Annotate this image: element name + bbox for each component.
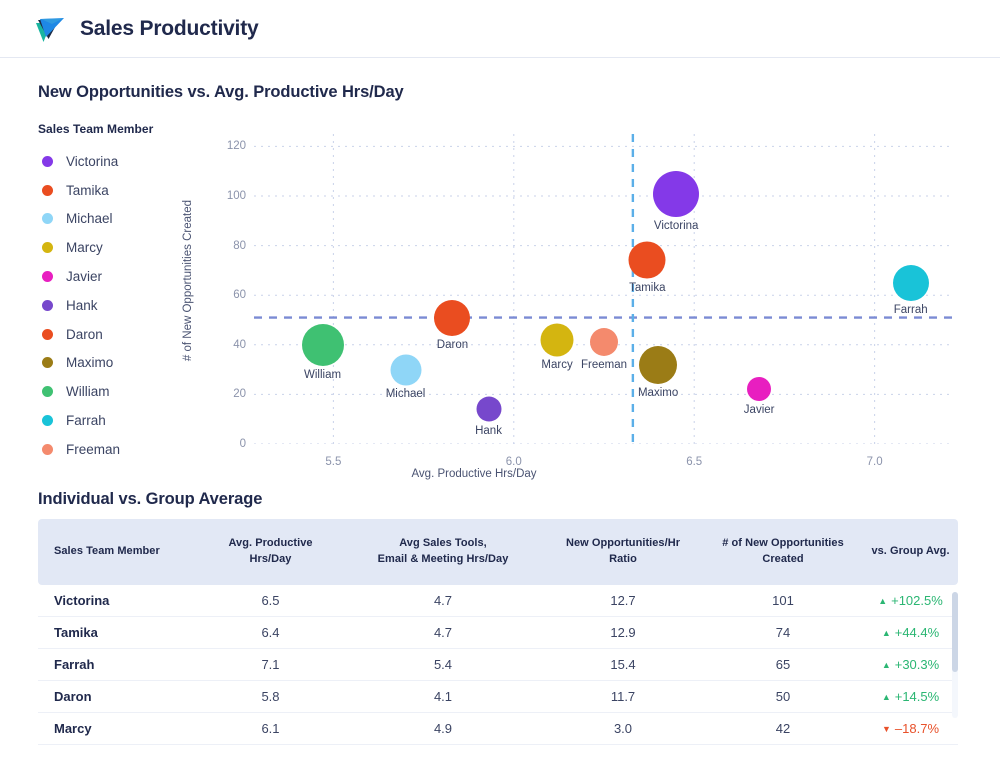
bubble-label: Hank — [475, 425, 502, 437]
y-axis-label: # of New Opportunities Created — [182, 200, 194, 361]
data-bubble[interactable] — [893, 265, 929, 301]
bubble-label: Michael — [386, 388, 426, 400]
col-header-member[interactable]: Sales Team Member — [38, 519, 198, 585]
cell-hrs: 6.5 — [198, 585, 343, 617]
cell-member: Marcy — [38, 712, 198, 744]
legend-item[interactable]: Victorina — [38, 147, 198, 176]
cell-vs-group-avg: ▲+30.3% — [863, 648, 958, 680]
x-tick-label: 7.0 — [850, 456, 900, 468]
delta-badge: ▲+14.5% — [882, 689, 939, 704]
cell-vs-group-avg: ▲+14.5% — [863, 680, 958, 712]
legend-color-dot — [42, 415, 53, 426]
arrow-up-icon: ▲ — [878, 596, 887, 606]
cell-vs-group-avg: ▼–18.7% — [863, 712, 958, 744]
cell-created: 42 — [703, 712, 863, 744]
col-header-vsavg[interactable]: vs. Group Avg. — [863, 519, 958, 585]
legend-item[interactable]: Javier — [38, 262, 198, 291]
arrow-down-icon: ▼ — [882, 724, 891, 734]
arrow-up-icon: ▲ — [882, 660, 891, 670]
bubble-label: Farrah — [894, 304, 928, 316]
legend-item[interactable]: Michael — [38, 205, 198, 234]
legend-item-label: Hank — [66, 298, 98, 313]
bubble-label: William — [304, 369, 341, 381]
legend-item-label: Tamika — [66, 183, 109, 198]
cell-hrs: 6.1 — [198, 712, 343, 744]
cell-ratio: 12.9 — [543, 616, 703, 648]
legend-color-dot — [42, 185, 53, 196]
cell-ratio: 15.4 — [543, 648, 703, 680]
table-row[interactable]: Marcy6.14.93.042▼–18.7% — [38, 712, 958, 744]
app-header: Sales Productivity — [0, 0, 1000, 58]
bubble-label: Tamika — [629, 282, 665, 294]
col-header-tools[interactable]: Avg Sales Tools,Email & Meeting Hrs/Day — [343, 519, 543, 585]
table-row[interactable]: Tamika6.44.712.974▲+44.4% — [38, 616, 958, 648]
legend-item[interactable]: Farrah — [38, 406, 198, 435]
data-bubble[interactable] — [747, 377, 771, 401]
legend-color-dot — [42, 386, 53, 397]
delta-badge: ▲+44.4% — [882, 625, 939, 640]
cell-hrs: 5.8 — [198, 680, 343, 712]
cell-vs-group-avg: ▲+102.5% — [863, 585, 958, 617]
cell-ratio: 11.7 — [543, 680, 703, 712]
cell-hrs: 7.1 — [198, 648, 343, 680]
bubble-label: Marcy — [541, 359, 572, 371]
col-header-hrs[interactable]: Avg. ProductiveHrs/Day — [198, 519, 343, 585]
bubble-label: Javier — [744, 404, 775, 416]
cell-vs-group-avg: ▲+44.4% — [863, 616, 958, 648]
legend-title: Sales Team Member — [38, 122, 198, 136]
cell-tools: 4.9 — [343, 712, 543, 744]
arrow-up-icon: ▲ — [882, 628, 891, 638]
cell-tools: 4.1 — [343, 680, 543, 712]
cell-hrs: 6.4 — [198, 616, 343, 648]
cell-member: Tamika — [38, 616, 198, 648]
bubble-chart: # of New Opportunities Created 020406080… — [190, 120, 980, 480]
legend-color-dot — [42, 357, 53, 368]
cell-tools: 4.7 — [343, 616, 543, 648]
x-axis-label: Avg. Productive Hrs/Day — [324, 468, 624, 480]
triangle-arrow-logo-icon — [32, 12, 66, 46]
cell-member: Daron — [38, 680, 198, 712]
legend-item[interactable]: Freeman — [38, 435, 198, 464]
chart-section-title: New Opportunities vs. Avg. Productive Hr… — [38, 83, 404, 102]
x-tick-label: 6.5 — [669, 456, 719, 468]
legend-item-label: Freeman — [66, 442, 120, 457]
cell-created: 65 — [703, 648, 863, 680]
cell-ratio: 12.7 — [543, 585, 703, 617]
y-tick-label: 0 — [206, 438, 246, 450]
y-tick-label: 80 — [206, 240, 246, 252]
cell-created: 74 — [703, 616, 863, 648]
data-bubble[interactable] — [434, 300, 470, 336]
arrow-up-icon: ▲ — [882, 692, 891, 702]
cell-member: Farrah — [38, 648, 198, 680]
y-tick-label: 40 — [206, 339, 246, 351]
plot-gridlines — [254, 134, 954, 444]
col-header-created[interactable]: # of New OpportunitiesCreated — [703, 519, 863, 585]
legend-item[interactable]: Marcy — [38, 233, 198, 262]
x-tick-label: 6.0 — [489, 456, 539, 468]
legend-item-label: Victorina — [66, 154, 118, 169]
x-tick-label: 5.5 — [308, 456, 358, 468]
table-scrollbar-thumb[interactable] — [952, 592, 958, 672]
delta-badge: ▲+30.3% — [882, 657, 939, 672]
cell-created: 50 — [703, 680, 863, 712]
data-bubble[interactable] — [302, 324, 344, 366]
data-bubble[interactable] — [541, 323, 574, 356]
data-bubble[interactable] — [629, 242, 666, 279]
legend-color-dot — [42, 213, 53, 224]
data-bubble[interactable] — [653, 171, 699, 217]
legend-item-label: Daron — [66, 327, 103, 342]
app-title: Sales Productivity — [80, 17, 258, 41]
comparison-table-wrapper: Sales Team Member Avg. ProductiveHrs/Day… — [38, 519, 958, 745]
bubble-label: Daron — [437, 339, 468, 351]
cell-created: 101 — [703, 585, 863, 617]
legend-item[interactable]: Daron — [38, 320, 198, 349]
cell-tools: 5.4 — [343, 648, 543, 680]
legend-item[interactable]: Maximo — [38, 349, 198, 378]
data-bubble[interactable] — [590, 328, 618, 356]
y-tick-label: 100 — [206, 190, 246, 202]
data-bubble[interactable] — [639, 346, 677, 384]
plot-region: VictorinaTamikaFarrahDaronMarcyFreemanWi… — [254, 134, 954, 444]
legend-item[interactable]: Hank — [38, 291, 198, 320]
legend-color-dot — [42, 242, 53, 253]
col-header-ratio[interactable]: New Opportunities/HrRatio — [543, 519, 703, 585]
table-row[interactable]: Daron5.84.111.750▲+14.5% — [38, 680, 958, 712]
data-bubble[interactable] — [390, 354, 421, 385]
cell-tools: 4.7 — [343, 585, 543, 617]
y-tick-label: 20 — [206, 388, 246, 400]
cell-member: Victorina — [38, 585, 198, 617]
legend-item-label: Farrah — [66, 413, 106, 428]
legend-item-label: Marcy — [66, 240, 103, 255]
comparison-table: Sales Team Member Avg. ProductiveHrs/Day… — [38, 519, 958, 745]
y-tick-label: 120 — [206, 140, 246, 152]
legend-item[interactable]: Tamika — [38, 176, 198, 205]
delta-badge: ▼–18.7% — [882, 721, 939, 736]
legend-item-label: Michael — [66, 211, 113, 226]
cell-ratio: 3.0 — [543, 712, 703, 744]
legend-color-dot — [42, 271, 53, 282]
table-row[interactable]: Farrah7.15.415.465▲+30.3% — [38, 648, 958, 680]
legend-item-label: Javier — [66, 269, 102, 284]
bubble-label: Victorina — [654, 220, 699, 232]
legend-color-dot — [42, 300, 53, 311]
y-tick-label: 60 — [206, 289, 246, 301]
legend-item-label: Maximo — [66, 355, 113, 370]
legend-color-dot — [42, 329, 53, 340]
legend-item[interactable]: William — [38, 377, 198, 406]
bubble-label: Freeman — [581, 359, 627, 371]
data-bubble[interactable] — [476, 397, 501, 422]
table-header-row: Sales Team Member Avg. ProductiveHrs/Day… — [38, 519, 958, 585]
delta-badge: ▲+102.5% — [878, 593, 943, 608]
legend-color-dot — [42, 156, 53, 167]
bubble-label: Maximo — [638, 387, 678, 399]
table-section-title: Individual vs. Group Average — [38, 490, 262, 509]
table-scrollbar-track[interactable] — [952, 592, 958, 718]
table-row[interactable]: Victorina6.54.712.7101▲+102.5% — [38, 585, 958, 617]
chart-legend: Sales Team Member VictorinaTamikaMichael… — [38, 122, 198, 464]
legend-item-label: William — [66, 384, 110, 399]
legend-color-dot — [42, 444, 53, 455]
